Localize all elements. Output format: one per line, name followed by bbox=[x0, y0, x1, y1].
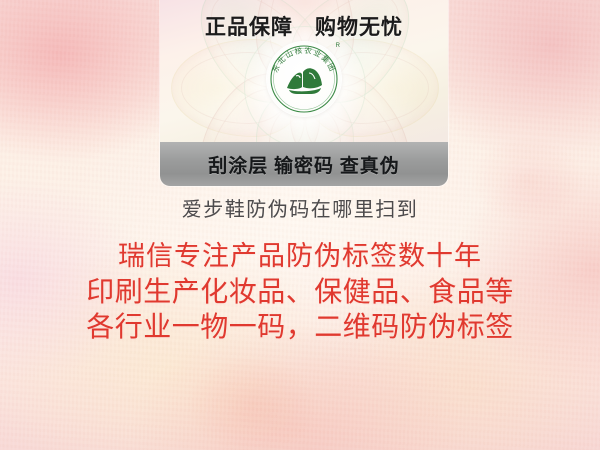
svg-text:东北山核农业集团: 东北山核农业集团 bbox=[270, 46, 337, 74]
promo-line-2: 印刷生产化妆品、保健品、食品等 bbox=[0, 274, 600, 309]
scratch-bar-text: 刮涂层 输密码 查真伪 bbox=[208, 151, 400, 178]
anti-counterfeit-label-card: 正品保障 购物无忧 东北山核农业集团 bbox=[160, 0, 448, 186]
promo-image-canvas: 正品保障 购物无忧 东北山核农业集团 bbox=[0, 0, 600, 450]
caption-text: 爱步鞋防伪码在哪里扫到 bbox=[0, 193, 600, 222]
promo-line-3: 各行业一物一码，二维码防伪标签 bbox=[0, 309, 600, 344]
brand-seal-logo: 东北山核农业集团 R bbox=[267, 42, 341, 116]
trademark-r-icon: R bbox=[336, 43, 340, 49]
scratch-off-bar[interactable]: 刮涂层 输密码 查真伪 bbox=[160, 142, 448, 186]
promo-line-1: 瑞信专注产品防伪标签数十年 bbox=[0, 240, 600, 274]
label-heading: 正品保障 购物无忧 bbox=[160, 11, 448, 41]
promo-text-block: 瑞信专注产品防伪标签数十年 印刷生产化妆品、保健品、食品等 各行业一物一码，二维… bbox=[0, 240, 600, 345]
